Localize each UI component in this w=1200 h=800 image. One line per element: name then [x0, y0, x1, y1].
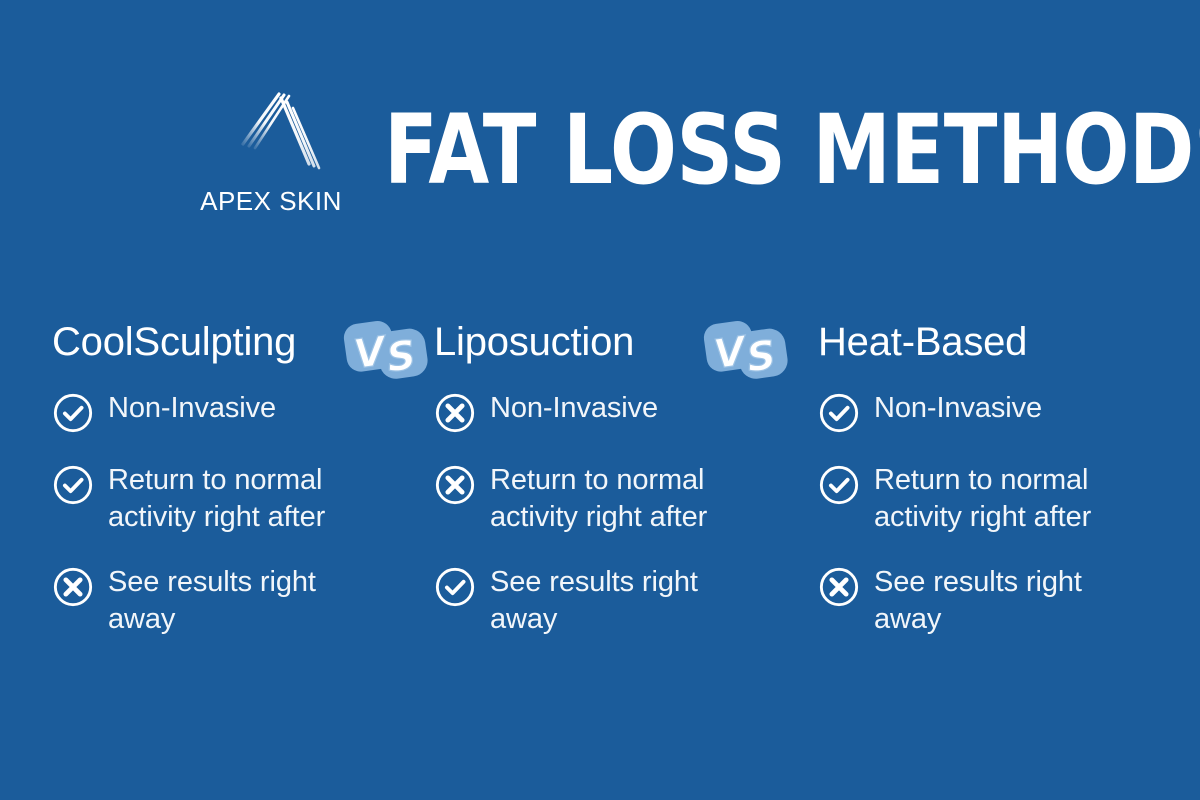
feature-line-2: activity right after [108, 499, 325, 536]
comparison-board: CoolSculpting Non-Invasive [0, 316, 1200, 666]
feature-label: Non-Invasive [874, 390, 1042, 427]
feature-label: Return to normal activity right after [108, 462, 325, 536]
feature-list: Non-Invasive Return to normal activity r… [52, 390, 372, 638]
feature-label: Non-Invasive [108, 390, 276, 427]
check-circle-icon [818, 392, 860, 434]
feature-list: Non-Invasive Return to normal activity r… [434, 390, 742, 638]
feature-label: Return to normal activity right after [874, 462, 1091, 536]
feature-line-1: See results right [874, 566, 1082, 598]
brand-lockup: APEX SKIN [196, 84, 346, 217]
feature-row: See results right away [434, 564, 742, 638]
column-title: Liposuction [434, 316, 742, 368]
x-circle-icon [52, 566, 94, 608]
feature-row: Return to normal activity right after [52, 462, 372, 536]
feature-label: Non-Invasive [490, 390, 658, 427]
infographic-canvas: APEX SKIN FAT LOSS METHODS CoolSculpting… [0, 0, 1200, 800]
vs-badge-icon: V S [700, 312, 792, 390]
vs-separator-1: V S [340, 312, 432, 390]
feature-label: See results right away [108, 564, 316, 638]
feature-line-1: See results right [490, 566, 698, 598]
feature-label: Return to normal activity right after [490, 462, 707, 536]
x-circle-icon [434, 392, 476, 434]
check-circle-icon [434, 566, 476, 608]
column-title: CoolSculpting [52, 316, 372, 368]
page-title: FAT LOSS METHODS [384, 105, 892, 196]
vs-badge-icon: V S [340, 312, 432, 390]
feature-row: See results right away [818, 564, 1122, 638]
feature-list: Non-Invasive Return to normal activity r… [818, 390, 1122, 638]
feature-line-2: activity right after [874, 499, 1091, 536]
feature-row: Non-Invasive [818, 390, 1122, 434]
feature-line-2: away [108, 601, 316, 638]
check-circle-icon [52, 464, 94, 506]
feature-line-2: away [490, 601, 698, 638]
feature-row: See results right away [52, 564, 372, 638]
check-circle-icon [52, 392, 94, 434]
x-circle-icon [434, 464, 476, 506]
feature-line-1: Non-Invasive [874, 392, 1042, 424]
feature-line-2: activity right after [490, 499, 707, 536]
page-title-wrap: FAT LOSS METHODS [384, 105, 1004, 196]
feature-line-1: Non-Invasive [490, 392, 658, 424]
feature-row: Non-Invasive [52, 390, 372, 434]
feature-row: Return to normal activity right after [818, 462, 1122, 536]
x-circle-icon [818, 566, 860, 608]
vs-separator-2: V S [700, 312, 792, 390]
feature-line-1: See results right [108, 566, 316, 598]
feature-line-2: away [874, 601, 1082, 638]
feature-line-1: Return to normal [874, 464, 1088, 496]
comparison-column-coolsculpting: CoolSculpting Non-Invasive [0, 316, 372, 666]
apex-triangle-logo-icon [213, 88, 329, 184]
column-title: Heat-Based [818, 316, 1122, 368]
feature-row: Non-Invasive [434, 390, 742, 434]
feature-line-1: Return to normal [490, 464, 704, 496]
feature-row: Return to normal activity right after [434, 462, 742, 536]
feature-label: See results right away [874, 564, 1082, 638]
comparison-column-heat-based: Heat-Based Non-Invasive [742, 316, 1122, 666]
check-circle-icon [818, 464, 860, 506]
feature-line-1: Return to normal [108, 464, 322, 496]
feature-line-1: Non-Invasive [108, 392, 276, 424]
header: APEX SKIN FAT LOSS METHODS [0, 84, 1200, 217]
brand-name: APEX SKIN [200, 186, 342, 217]
feature-label: See results right away [490, 564, 698, 638]
